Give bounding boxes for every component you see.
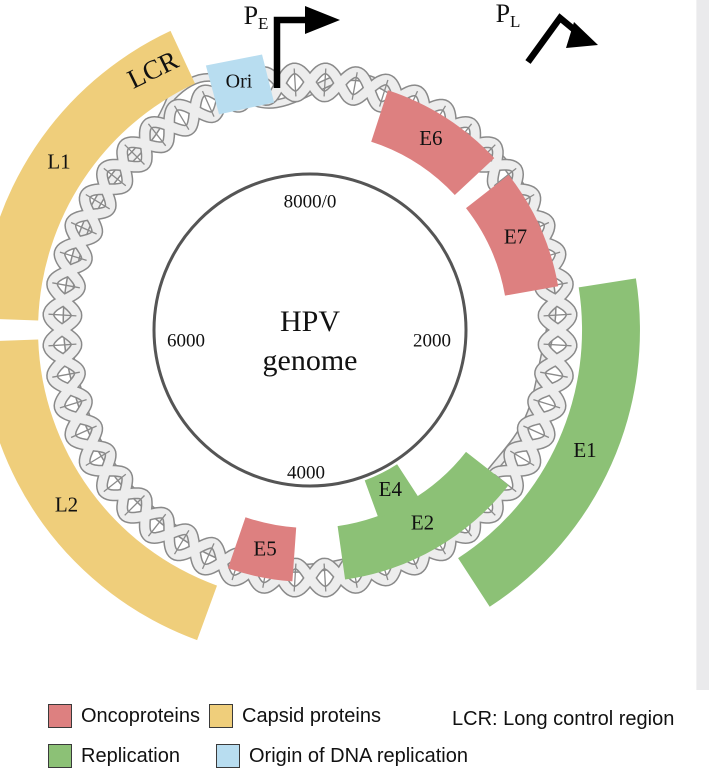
- legend-swatch-replication: [48, 744, 72, 768]
- center-title-line1: HPV: [280, 305, 340, 338]
- tick-6000: 6000: [167, 330, 205, 351]
- legend-swatch-origin: [216, 744, 240, 768]
- gene-e7-label: E7: [504, 224, 527, 248]
- gene-l2-label: L2: [55, 493, 78, 517]
- gene-e6-label: E6: [419, 126, 442, 150]
- promoter-pl-letter: P: [496, 0, 510, 28]
- legend-label-oncoproteins: Oncoproteins: [81, 704, 200, 728]
- legend-label-capsid-proteins: Capsid proteins: [242, 704, 381, 728]
- right-edge-strip: [697, 0, 709, 690]
- gene-e1-label: E1: [573, 438, 596, 462]
- legend-oncoproteins: Oncoproteins: [48, 702, 200, 730]
- hpv-genome-map: E6E7E1E2E4E5L2L1 8000/0 2000 4000 6000 H…: [0, 0, 709, 690]
- gene-e4-label: E4: [379, 477, 403, 501]
- legend-origin: Origin of DNA replication: [216, 742, 468, 770]
- promoter-pe-letter: P: [244, 1, 258, 30]
- legend-label-replication: Replication: [81, 744, 180, 768]
- legend-swatch-oncoproteins: [48, 704, 72, 728]
- legend-note-lcr: LCR: Long control region: [452, 708, 674, 731]
- gene-e5-label: E5: [253, 536, 276, 560]
- promoter-pl-arrow: [528, 18, 598, 62]
- promoter-pl-label: PL: [496, 0, 521, 31]
- tick-4000: 4000: [287, 462, 325, 483]
- legend-label-origin: Origin of DNA replication: [249, 744, 468, 768]
- promoter-pe-label: PE: [244, 1, 269, 33]
- center-title-line2: genome: [263, 344, 358, 377]
- ori-label: Ori: [226, 71, 253, 93]
- legend: Oncoproteins Capsid proteins Replication…: [0, 696, 709, 779]
- promoter-pl-subscript: L: [510, 12, 520, 31]
- legend-capsid-proteins: Capsid proteins: [209, 702, 381, 730]
- gene-l1-label: L1: [47, 150, 70, 174]
- legend-replication: Replication: [48, 742, 180, 770]
- promoter-pe-subscript: E: [258, 14, 268, 33]
- gene-e2-label: E2: [411, 511, 434, 535]
- tick-8000-0: 8000/0: [284, 191, 337, 212]
- figure-canvas: E6E7E1E2E4E5L2L1 8000/0 2000 4000 6000 H…: [0, 0, 709, 779]
- legend-swatch-capsid-proteins: [209, 704, 233, 728]
- tick-2000: 2000: [413, 330, 451, 351]
